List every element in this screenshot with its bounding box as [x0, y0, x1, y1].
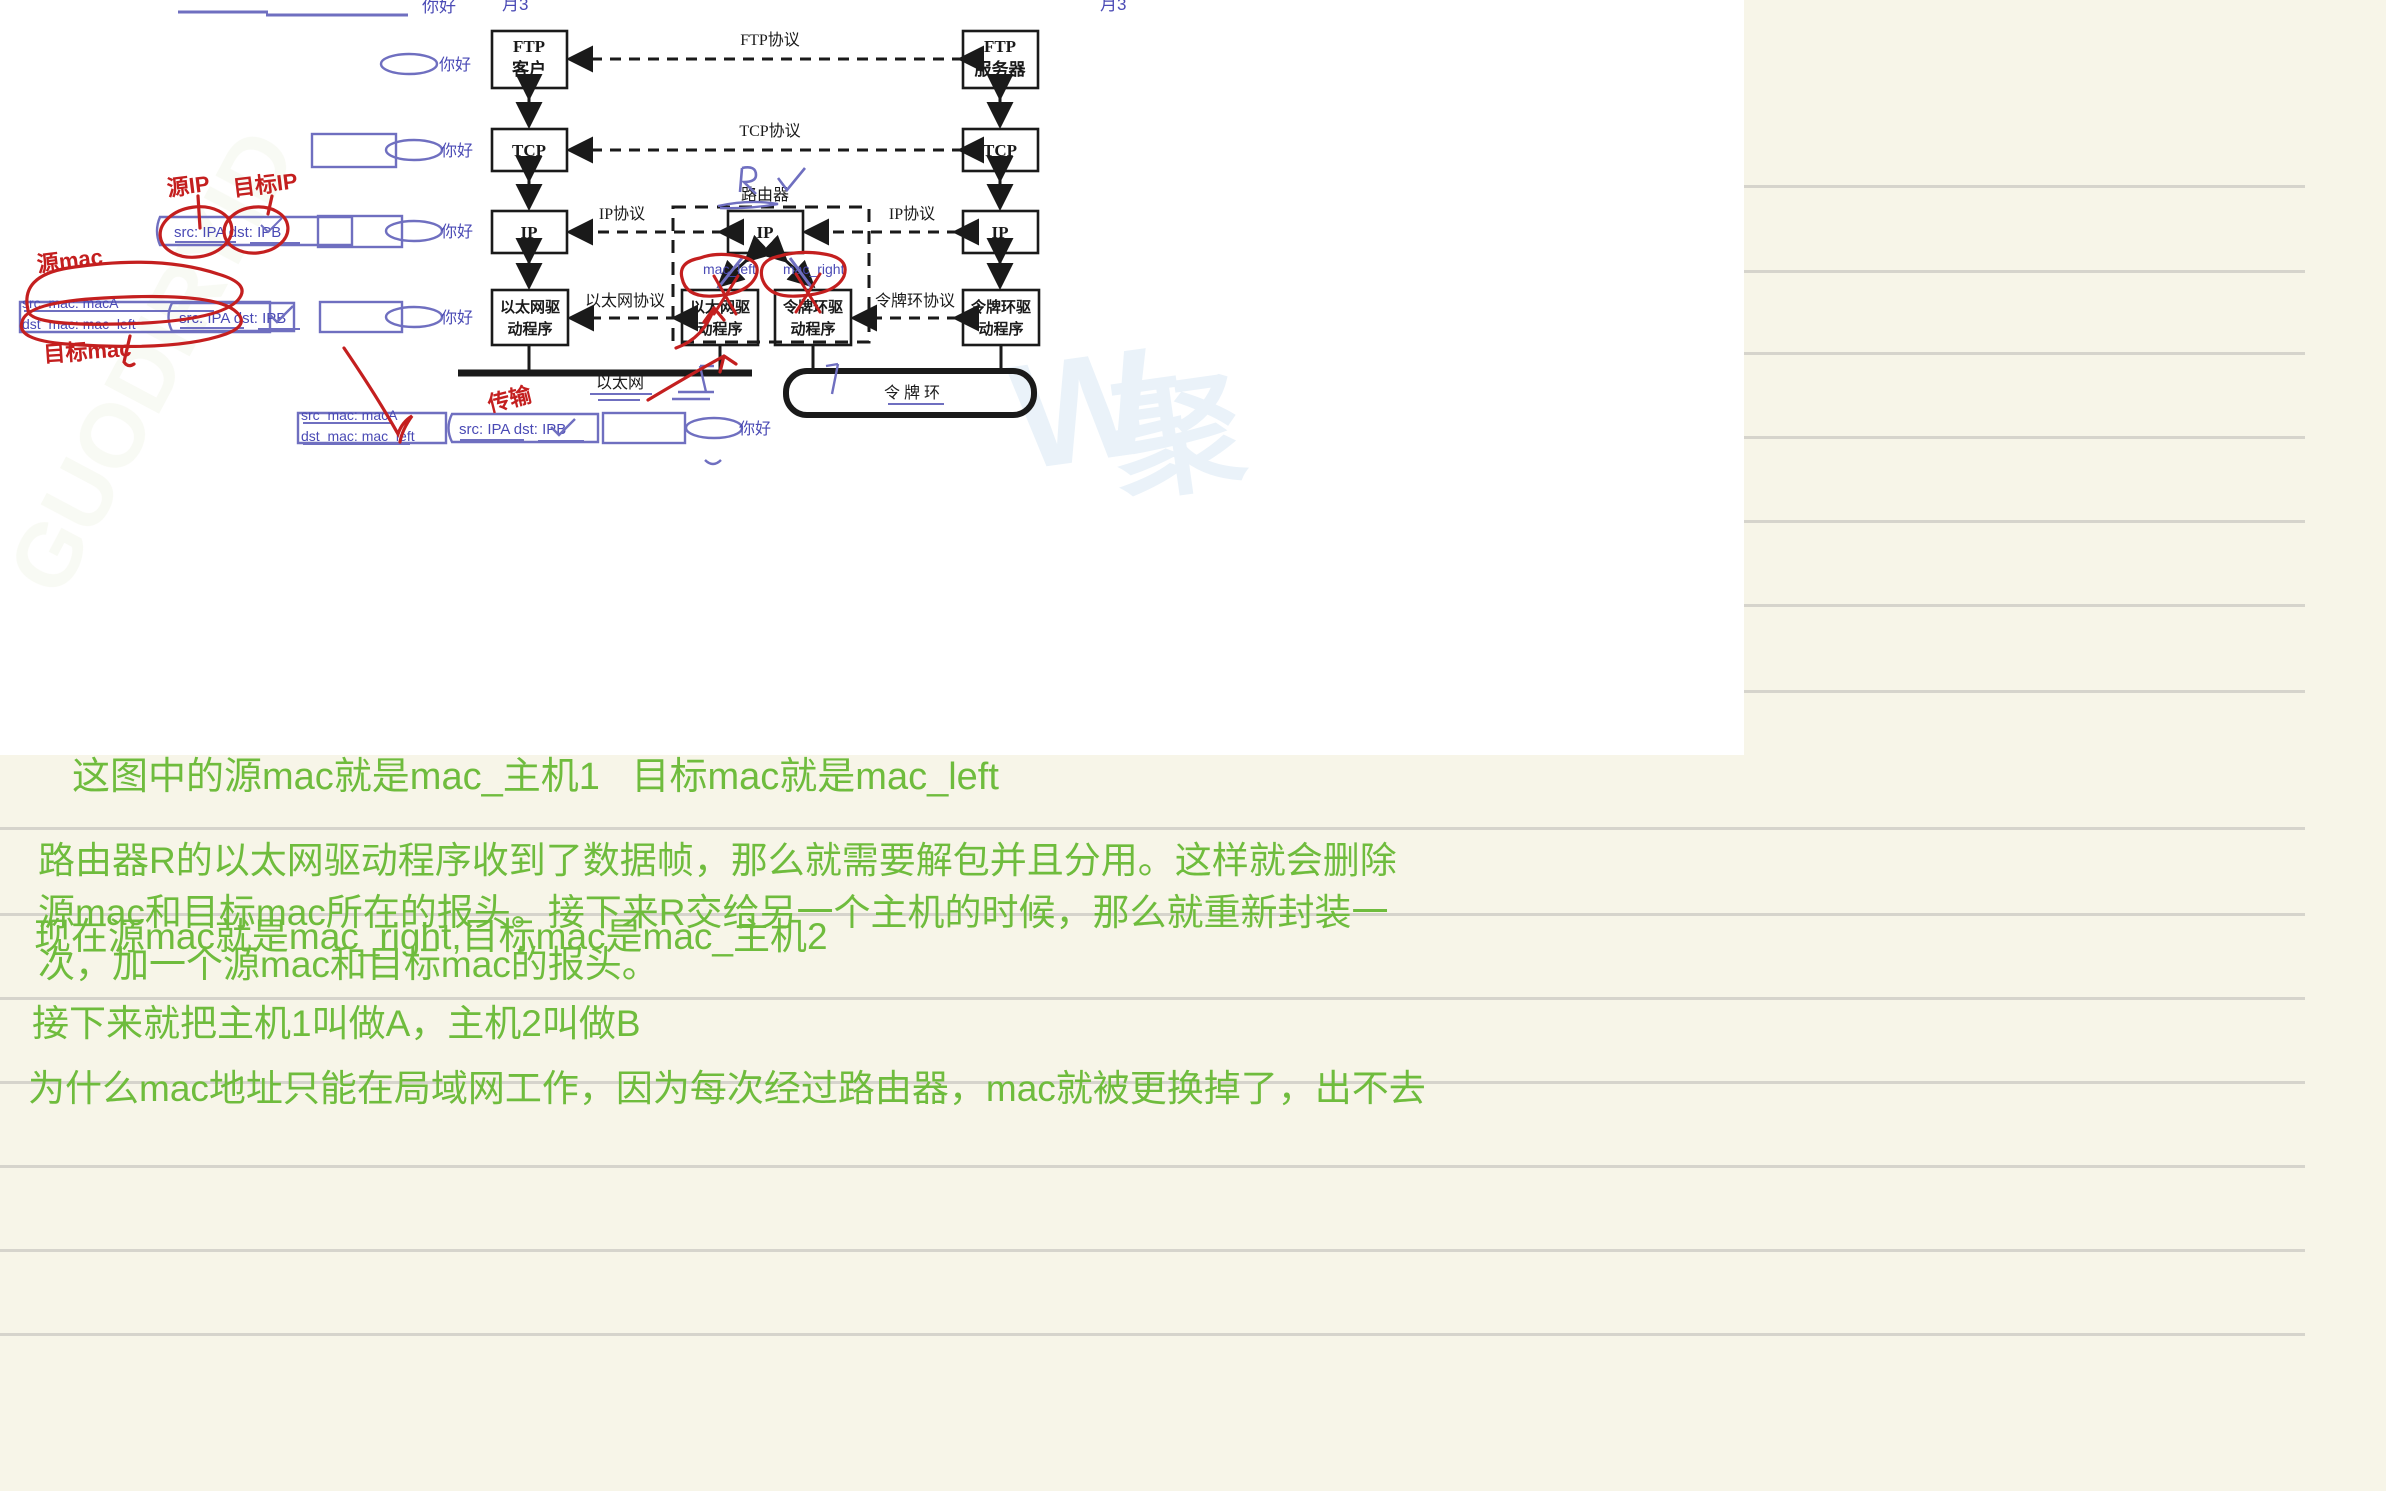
blue-hello-3: 你好 — [441, 223, 473, 241]
label-ip-right: IP — [992, 223, 1009, 242]
label-ip-protocol-left: IP协议 — [599, 205, 645, 223]
blue-hello-2: 你好 — [441, 142, 473, 160]
blue-hello-5: 你好 — [739, 420, 771, 438]
label-tcp-right: TCP — [983, 141, 1017, 160]
note-line-1: 这图中的源mac就是mac_主机1 目标mac就是mac_left — [72, 753, 999, 801]
label-ip-protocol-right: IP协议 — [889, 205, 935, 223]
label-tcp-protocol: TCP协议 — [739, 122, 800, 140]
label-tcp-left: TCP — [512, 141, 546, 160]
network-layering-diagram[interactable]: W 聚 GUODIRYID 你好 月3 月3 FTP 客户 FTP 服务器 TC… — [0, 0, 1744, 755]
label-ip-left: IP — [521, 223, 538, 242]
label-token-ring-protocol: 令牌环协议 — [875, 292, 955, 310]
label-ethernet-protocol: 以太网协议 — [585, 292, 665, 310]
note-line-2: 现在源mac就是mac_right,目标mac是mac_主机2 — [34, 913, 828, 961]
label-ftp-client-1: FTP — [513, 37, 545, 56]
label-ftp-server-2: 服务器 — [975, 59, 1027, 79]
label-ftp-server-1: FTP — [984, 37, 1016, 56]
blue-ip-header-text-3: src: IPA dst: IPB — [459, 421, 566, 438]
label-ftp-client-2: 客户 — [511, 59, 546, 79]
label-tr-right-1: 令牌环驱 — [971, 298, 1031, 316]
note-line-3: 接下来就把主机1叫做A，主机2叫做B — [32, 1000, 641, 1048]
rule-line — [0, 1249, 2305, 1252]
label-ftp-protocol: FTP协议 — [740, 31, 800, 49]
blue-ip-header-text-1: src: IPA dst: IPB — [174, 224, 281, 241]
label-tr-right-2: 动程序 — [978, 320, 1023, 338]
label-tr-router-2: 动程序 — [790, 320, 835, 338]
blue-hello-1: 你好 — [439, 56, 471, 74]
rule-line — [0, 1333, 2305, 1336]
cropped-hello-top: 你好 — [422, 0, 456, 16]
note-line-4: 为什么mac地址只能在局域网工作，因为每次经过路由器，mac就被更换掉了，出不去 — [28, 1065, 1426, 1113]
label-ip-router: IP — [757, 223, 774, 242]
rule-line — [0, 1165, 2305, 1168]
red-text-src-ip: 源IP — [166, 171, 212, 201]
label-token-ring: 令 牌 环 — [884, 384, 940, 402]
label-eth-left-1: 以太网驱 — [500, 298, 560, 316]
blue-hello-4: 你好 — [441, 309, 473, 327]
cropped-hello-top2: 月3 — [502, 0, 528, 14]
rule-line — [0, 827, 2305, 830]
label-eth-left-2: 动程序 — [507, 320, 552, 338]
cropped-hello-top3: 月3 — [1100, 0, 1126, 14]
red-leader-src-ip — [198, 196, 200, 228]
label-ethernet-bus: 以太网 — [596, 374, 644, 392]
